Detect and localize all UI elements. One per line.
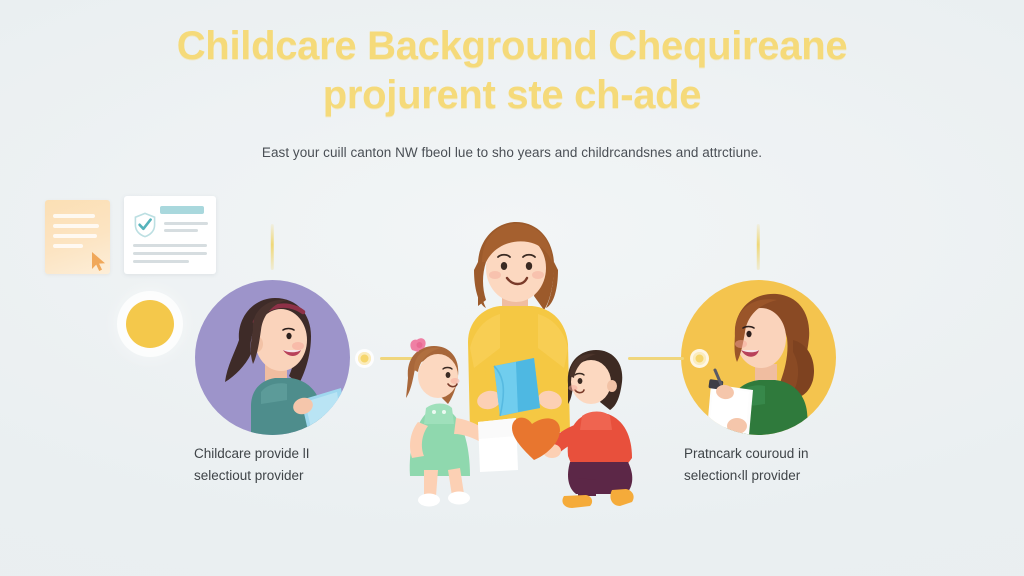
text-line — [53, 244, 83, 248]
caregiver-with-children-illustration — [382, 218, 644, 518]
step-left-caption-line-2: selectiout provider — [194, 465, 372, 487]
caregiver-figure — [468, 222, 570, 432]
text-line — [133, 260, 189, 263]
document-cluster — [44, 196, 224, 278]
text-line — [164, 222, 208, 225]
step-right-caption: Pratncark couroud in selection‹ll provid… — [658, 443, 858, 487]
step-tick-marker — [757, 224, 760, 270]
verified-document-card — [124, 196, 216, 274]
step-right-caption-line-1: Pratncark couroud in — [684, 443, 858, 465]
text-line — [133, 252, 207, 255]
page-subtitle: East your cuill canton NW fbeol lue to s… — [0, 145, 1024, 160]
slide-background: Childcare Background Chequireane projure… — [0, 0, 1024, 576]
connector-dot — [693, 352, 706, 365]
page-title-line-1: Childcare Background Chequireane — [177, 24, 848, 68]
page-title: Childcare Background Chequireane projure… — [0, 22, 1024, 120]
step-left-illustration — [195, 280, 350, 435]
step-tick-marker — [271, 224, 274, 270]
connector-dot — [358, 352, 371, 365]
text-line — [53, 214, 95, 218]
yellow-accent-dot — [126, 300, 174, 348]
page-title-line-2: projurent ste ch-ade — [90, 71, 934, 120]
text-line — [53, 224, 99, 228]
text-line — [164, 229, 198, 232]
step-left-caption: Childcare provide lI selectiout provider — [172, 443, 372, 487]
step-left-caption-line-1: Childcare provide lI — [194, 443, 372, 465]
step-right-caption-line-2: selection‹ll provider — [684, 465, 858, 487]
text-line — [53, 234, 97, 238]
orange-note-card — [45, 200, 110, 274]
text-line — [133, 244, 207, 247]
shield-check-icon — [133, 212, 157, 238]
card-header-bar — [160, 206, 204, 214]
